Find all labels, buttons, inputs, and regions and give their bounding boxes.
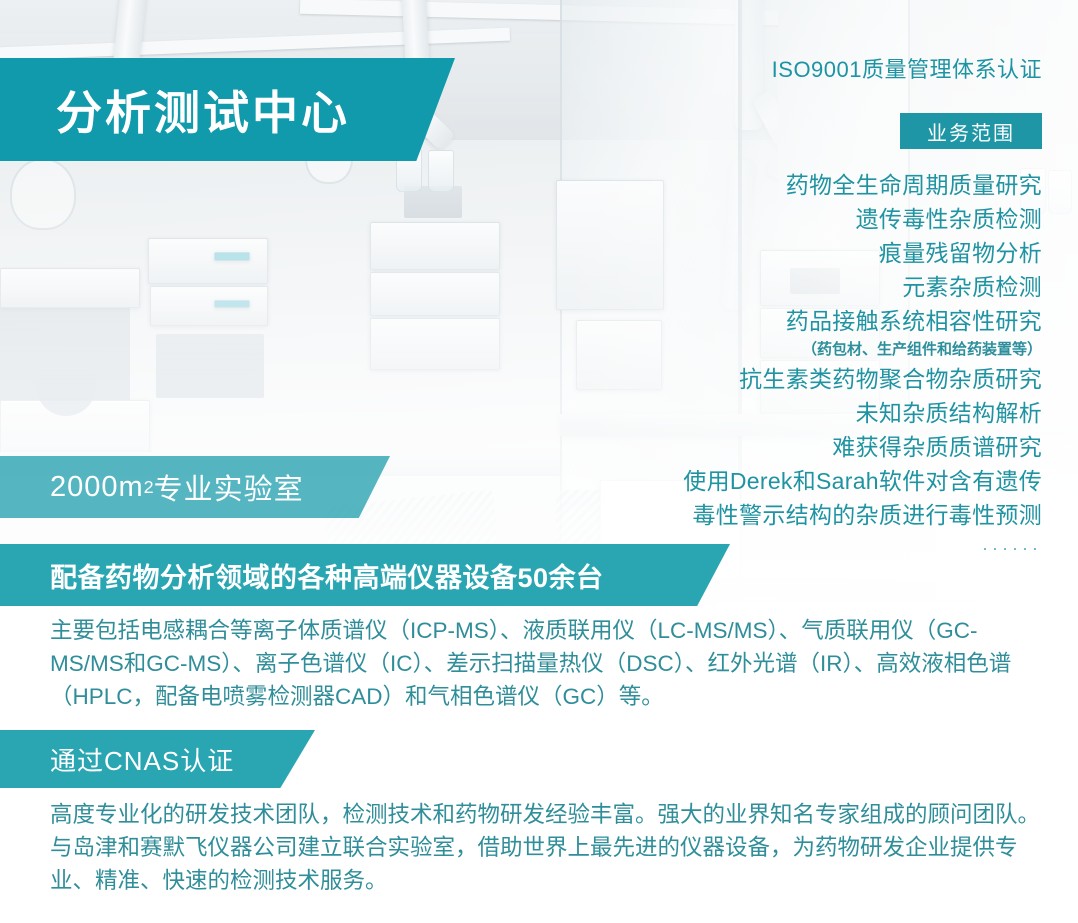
list-item: 遗传毒性杂质检测 <box>612 202 1042 236</box>
list-item: 使用Derek和Sarah软件对含有遗传 <box>612 464 1042 498</box>
instruments-banner: 配备药物分析领域的各种高端仪器设备50余台 <box>0 544 730 606</box>
list-item: 毒性警示结构的杂质进行毒性预测 <box>612 498 1042 532</box>
instruments-banner-label: 配备药物分析领域的各种高端仪器设备50余台 <box>50 556 604 595</box>
iso-certification-label: ISO9001质量管理体系认证 <box>772 52 1042 84</box>
business-scope-badge: 业务范围 <box>900 113 1042 149</box>
cnas-body-text: 高度专业化的研发技术团队，检测技术和药物研发经验丰富。强大的业界知名专家组成的顾… <box>50 798 1040 897</box>
lab-area-banner: 2000m2专业实验室 <box>0 456 390 518</box>
list-item: 元素杂质检测 <box>612 270 1042 304</box>
business-scope-list: 药物全生命周期质量研究 遗传毒性杂质检测 痕量残留物分析 元素杂质检测 药品接触… <box>612 168 1042 559</box>
page-title-banner: 分析测试中心 <box>0 58 455 161</box>
cnas-banner: 通过CNAS认证 <box>0 730 315 788</box>
list-item: 药品接触系统相容性研究 <box>612 304 1042 338</box>
analysis-center-poster: 分析测试中心 ISO9001质量管理体系认证 业务范围 药物全生命周期质量研究 … <box>0 0 1078 923</box>
lab-area-number: 2000m <box>50 471 144 504</box>
lab-area-label: 专业实验室 <box>154 466 304 508</box>
list-item: 未知杂质结构解析 <box>612 396 1042 430</box>
list-item: 痕量残留物分析 <box>612 236 1042 270</box>
instruments-body-text: 主要包括电感耦合等离子体质谱仪（ICP-MS）、液质联用仪（LC-MS/MS）、… <box>50 614 1050 713</box>
lab-area-unit-superscript: 2 <box>144 477 154 498</box>
list-item: 药物全生命周期质量研究 <box>612 168 1042 202</box>
list-item: 难获得杂质质谱研究 <box>612 430 1042 464</box>
cnas-banner-label: 通过CNAS认证 <box>50 741 234 778</box>
list-item: 抗生素类药物聚合物杂质研究 <box>612 362 1042 396</box>
list-item-sub: （药包材、生产组件和给药装置等） <box>612 338 1042 362</box>
page-title: 分析测试中心 <box>56 77 350 143</box>
